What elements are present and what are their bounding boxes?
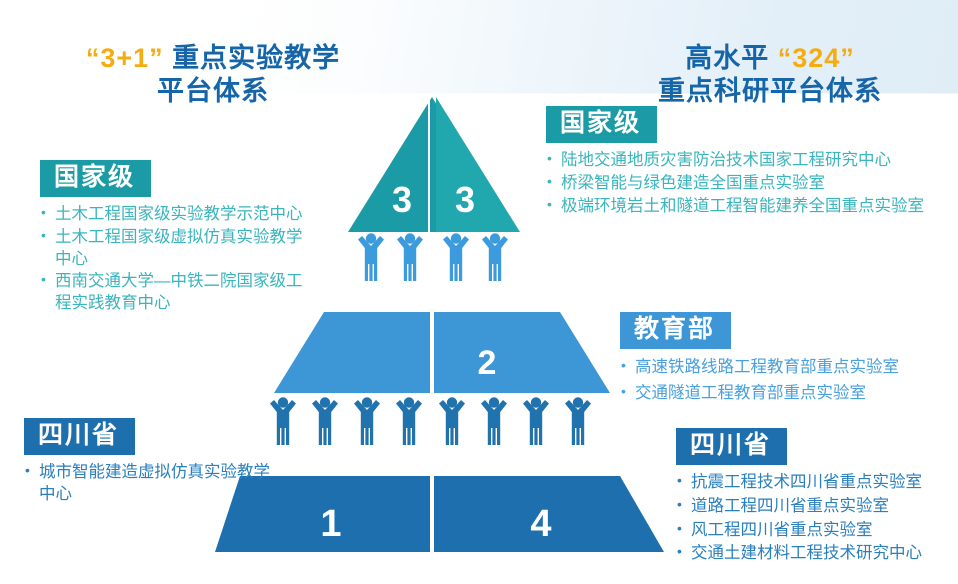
badge-right-moe: 教育部	[620, 312, 731, 349]
list-item: 土木工程国家级虚拟仿真实验教学中心	[40, 227, 308, 271]
list-left-national: 土木工程国家级实验教学示范中心 土木工程国家级虚拟仿真实验教学中心 西南交通大学…	[40, 204, 308, 315]
list-item: 土木工程国家级实验教学示范中心	[40, 204, 308, 226]
lower-figure-row	[270, 397, 591, 445]
top-tier-right-value: 3	[455, 179, 475, 220]
right-title-prefix: 高水平	[685, 43, 778, 73]
bottom-tier-left-value: 1	[320, 503, 341, 545]
right-title-highlight: “324”	[778, 43, 855, 73]
list-item: 交通隧道工程教育部重点实验室	[620, 383, 950, 405]
list-item: 交通土建材料工程技术研究中心	[676, 543, 954, 565]
list-right-moe: 高速铁路线路工程教育部重点实验室 交通隧道工程教育部重点实验室	[620, 357, 950, 405]
list-item: 极端环境岩土和隧道工程智能建养全国重点实验室	[546, 196, 944, 218]
list-item: 桥梁智能与绿色建造全国重点实验室	[546, 173, 944, 195]
top-tier-left-value: 3	[392, 179, 412, 220]
left-title-rest: 重点实验教学 平台体系	[157, 43, 340, 106]
block-right-national: 国家级 陆地交通地质灾害防治技术国家工程研究中心 桥梁智能与绿色建造全国重点实验…	[546, 106, 944, 218]
right-title-rest: 重点科研平台体系	[658, 76, 882, 106]
list-item: 风工程四川省重点实验室	[676, 520, 954, 542]
block-right-moe: 教育部 高速铁路线路工程教育部重点实验室 交通隧道工程教育部重点实验室	[620, 312, 950, 409]
badge-right-national: 国家级	[546, 106, 657, 143]
pyramid-middle-tier	[274, 312, 610, 393]
left-title: “3+1” 重点实验教学 平台体系	[48, 9, 378, 108]
pyramid-top-tier	[348, 97, 520, 232]
bottom-tier-right-value: 4	[530, 503, 551, 545]
badge-right-sichuan: 四川省	[676, 428, 787, 465]
list-item: 陆地交通地质灾害防治技术国家工程研究中心	[546, 150, 944, 172]
list-item: 高速铁路线路工程教育部重点实验室	[620, 357, 950, 379]
list-item: 道路工程四川省重点实验室	[676, 496, 954, 518]
list-left-sichuan: 城市智能建造虚拟仿真实验教学中心	[24, 462, 286, 506]
list-item: 城市智能建造虚拟仿真实验教学中心	[24, 462, 286, 506]
block-left-national: 国家级 土木工程国家级实验教学示范中心 土木工程国家级虚拟仿真实验教学中心 西南…	[40, 160, 308, 316]
list-item: 西南交通大学—中铁二院国家级工程实践教育中心	[40, 271, 308, 315]
badge-left-sichuan: 四川省	[24, 418, 135, 455]
right-title: 高水平 “324” 重点科研平台体系	[600, 9, 940, 108]
slide-canvas: “3+1” 重点实验教学 平台体系 高水平 “324” 重点科研平台体系 3 3	[0, 0, 958, 584]
left-title-highlight: “3+1”	[86, 43, 164, 73]
list-right-national: 陆地交通地质灾害防治技术国家工程研究中心 桥梁智能与绿色建造全国重点实验室 极端…	[546, 150, 944, 217]
list-item: 抗震工程技术四川省重点实验室	[676, 472, 954, 494]
badge-left-national: 国家级	[40, 160, 151, 197]
middle-tier-right-value: 2	[478, 344, 497, 382]
list-right-sichuan: 抗震工程技术四川省重点实验室 道路工程四川省重点实验室 风工程四川省重点实验室 …	[676, 472, 954, 565]
upper-figure-row	[358, 233, 508, 281]
block-left-sichuan: 四川省 城市智能建造虚拟仿真实验教学中心	[24, 418, 286, 507]
block-right-sichuan: 四川省 抗震工程技术四川省重点实验室 道路工程四川省重点实验室 风工程四川省重点…	[676, 428, 954, 567]
